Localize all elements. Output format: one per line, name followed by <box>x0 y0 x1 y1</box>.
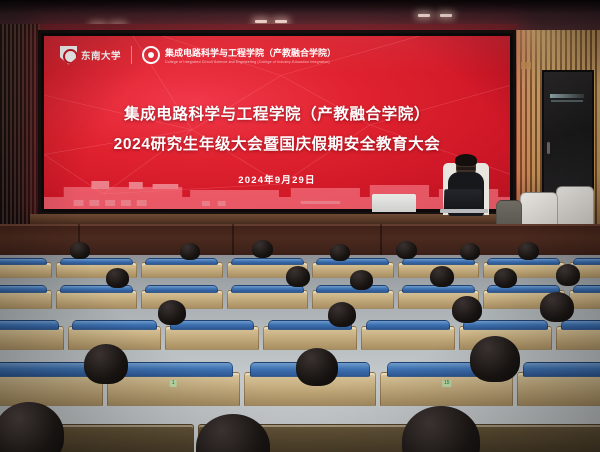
recessed-downlight <box>255 20 267 23</box>
seat-back[interactable] <box>0 320 59 330</box>
seat-back[interactable] <box>0 285 47 293</box>
student-head <box>460 243 480 260</box>
campus-skyline-illustration <box>44 179 510 209</box>
student-head <box>252 240 273 258</box>
seat-back[interactable] <box>523 362 600 377</box>
student-head <box>518 242 539 260</box>
student-head <box>106 268 129 288</box>
desk-back[interactable] <box>556 326 600 350</box>
presenter-glasses <box>457 167 475 170</box>
student-head <box>396 241 417 259</box>
student-head <box>430 266 454 287</box>
circle-emblem-icon <box>142 46 160 64</box>
desk-back[interactable] <box>56 290 138 309</box>
seat-back[interactable] <box>60 258 133 264</box>
student-head <box>328 302 356 327</box>
desk-back[interactable] <box>227 290 309 309</box>
student-head <box>452 296 482 323</box>
wall-sign <box>521 62 531 69</box>
seat-back[interactable] <box>145 258 218 264</box>
seat-back[interactable] <box>573 285 600 293</box>
seat-back[interactable] <box>316 258 389 264</box>
seat-back[interactable] <box>0 258 47 264</box>
school-name-en: College of Integrated Circuit Science an… <box>165 60 336 64</box>
seat-number: 1 <box>170 380 177 387</box>
seat-back[interactable] <box>113 362 233 377</box>
student-head <box>470 336 520 382</box>
school-name-cn: 集成电路科学与工程学院（产教融合学院） <box>165 46 336 59</box>
seat-row[interactable] <box>0 290 600 309</box>
southeast-university-shield-logo: 东南大学 <box>60 46 121 65</box>
school-circular-emblem: 集成电路科学与工程学院（产教融合学院） College of Integrate… <box>142 46 336 64</box>
desk-back[interactable] <box>0 326 64 350</box>
laptop-base <box>440 209 488 213</box>
door-handle[interactable] <box>547 142 550 154</box>
desk-back[interactable] <box>141 262 223 278</box>
presenter-hair <box>455 154 477 166</box>
seat-back[interactable] <box>231 258 304 264</box>
desk-back[interactable] <box>0 290 52 309</box>
seat-back[interactable] <box>72 320 156 330</box>
student-head <box>286 266 310 287</box>
seat-back[interactable] <box>366 320 450 330</box>
desk-back[interactable] <box>517 372 600 406</box>
dark-slat-wall <box>0 24 40 239</box>
seat-back[interactable] <box>0 362 97 377</box>
student-head <box>350 270 373 290</box>
student-head <box>330 244 350 261</box>
student-head <box>556 264 580 286</box>
desk-back[interactable] <box>165 326 259 350</box>
student-head <box>296 348 338 386</box>
seat-back[interactable] <box>145 285 218 293</box>
desk-back[interactable] <box>0 262 52 278</box>
recessed-downlight <box>440 14 452 17</box>
lecture-hall-photo: 东南大学 集成电路科学与工程学院（产教融合学院） College of Inte… <box>0 0 600 452</box>
open-white-laptop <box>372 194 416 212</box>
event-title-line1: 集成电路科学与工程学院（产教融合学院） <box>44 102 510 124</box>
student-head <box>84 344 128 384</box>
led-screen: 东南大学 集成电路科学与工程学院（产教融合学院） College of Inte… <box>44 36 510 209</box>
presenter-laptop <box>444 189 483 211</box>
university-name: 东南大学 <box>81 48 121 62</box>
recessed-downlight <box>418 14 430 17</box>
screen-header: 东南大学 集成电路科学与工程学院（产教融合学院） College of Inte… <box>44 36 510 74</box>
header-divider <box>131 46 132 64</box>
seat-number: 15 <box>442 380 452 387</box>
seat-back[interactable] <box>561 320 600 330</box>
student-head <box>494 268 517 288</box>
desk-back[interactable] <box>361 326 455 350</box>
student-head <box>158 300 186 325</box>
student-head <box>540 292 574 322</box>
event-title-line2: 2024研究生年级大会暨国庆假期安全教育大会 <box>44 132 510 154</box>
desk-back[interactable] <box>263 326 357 350</box>
recessed-downlight <box>275 20 287 23</box>
student-head <box>180 243 200 260</box>
ceiling-shadow <box>0 0 600 14</box>
seat-row[interactable] <box>0 424 600 452</box>
student-head <box>70 242 90 259</box>
shield-icon <box>60 46 77 65</box>
seat-back[interactable] <box>573 258 600 264</box>
desk-back[interactable]: 1 <box>107 372 240 406</box>
